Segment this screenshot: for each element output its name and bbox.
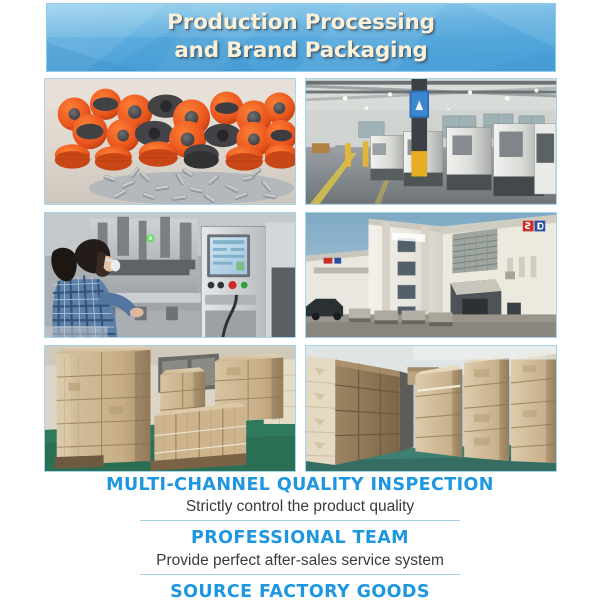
- footer-heading-source-factory-goods: SOURCE FACTORY GOODS: [0, 581, 600, 600]
- photo-gallery-grid: [44, 78, 557, 472]
- footer-block-source-factory-goods: SOURCE FACTORY GOODS: [0, 581, 600, 600]
- banner-title-line-1: Production Processing: [47, 9, 555, 37]
- footer-heading-professional-team: PROFESSIONAL TEAM: [0, 527, 600, 549]
- banner-title: Production Processing and Brand Packagin…: [47, 4, 555, 66]
- gallery-cell-operator-at-machine[interactable]: [44, 212, 296, 339]
- footer-sub-quality-inspection: Strictly control the product quality: [0, 496, 600, 518]
- footer-divider-2: [140, 574, 460, 575]
- photo-factory-building: [306, 213, 556, 338]
- footer-block-professional-team: PROFESSIONAL TEAM Provide perfect after-…: [0, 527, 600, 574]
- footer-block-quality-inspection: MULTI-CHANNEL QUALITY INSPECTION Strictl…: [0, 474, 600, 521]
- photo-packed-cartons: [45, 346, 295, 471]
- footer-feature-list: MULTI-CHANNEL QUALITY INSPECTION Strictl…: [0, 474, 600, 600]
- gallery-cell-factory-building[interactable]: [305, 212, 557, 339]
- header-banner: Production Processing and Brand Packagin…: [46, 3, 556, 72]
- photo-cnc-workshop: [306, 79, 556, 204]
- footer-heading-quality-inspection: MULTI-CHANNEL QUALITY INSPECTION: [0, 474, 600, 496]
- gallery-cell-cnc-workshop[interactable]: [305, 78, 557, 205]
- gallery-cell-orange-gear-parts[interactable]: [44, 78, 296, 205]
- footer-sub-professional-team: Provide perfect after-sales service syst…: [0, 550, 600, 572]
- banner-title-line-2: and Brand Packaging: [47, 37, 555, 65]
- gallery-cell-packed-cartons[interactable]: [44, 345, 296, 472]
- gallery-cell-warehouse-stacks[interactable]: [305, 345, 557, 472]
- photo-orange-gear-parts: [45, 79, 295, 204]
- photo-operator-at-machine: [45, 213, 295, 338]
- footer-divider-1: [140, 520, 460, 521]
- product-feature-banner-page: Production Processing and Brand Packagin…: [0, 0, 600, 600]
- photo-warehouse-stacks: [306, 346, 556, 471]
